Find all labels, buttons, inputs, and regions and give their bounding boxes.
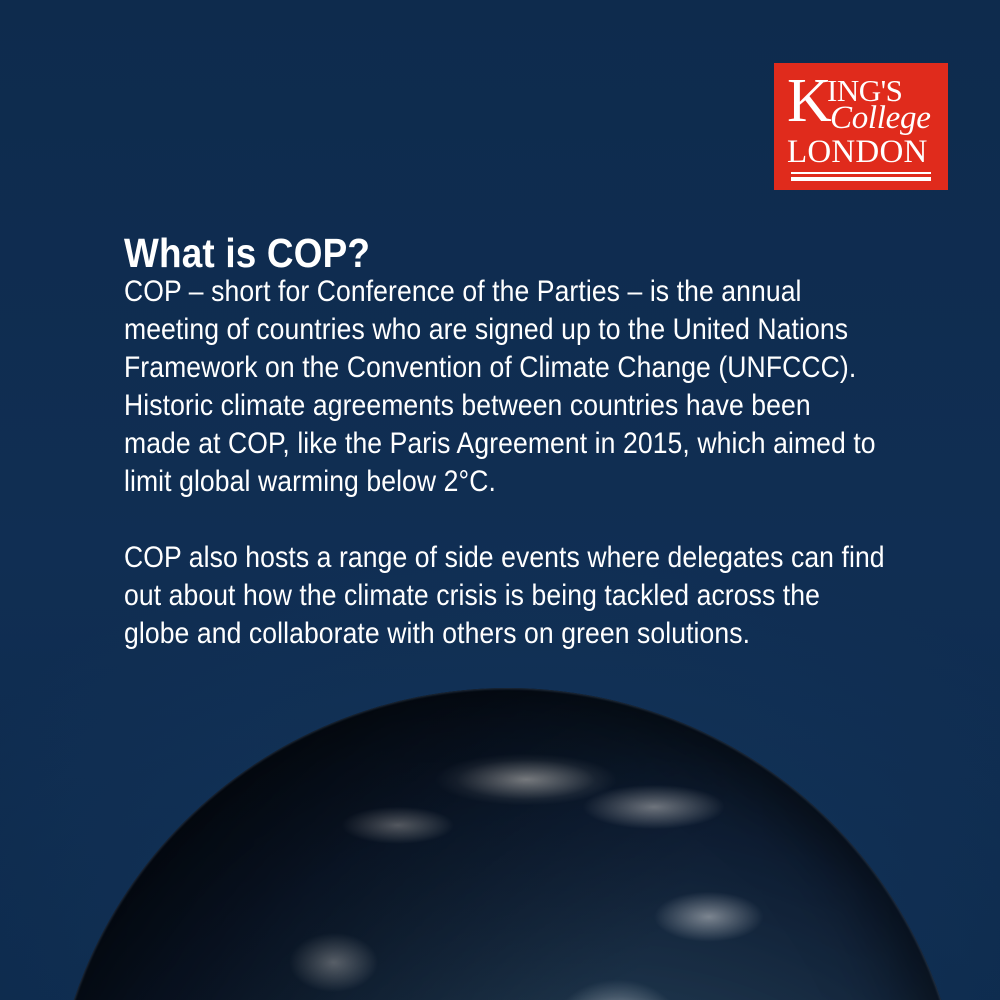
paragraph-1-line: Framework on the Convention of Climate C…	[124, 349, 903, 387]
logo-underline-rules	[791, 172, 931, 181]
body-copy: COP – short for Conference of the Partie…	[124, 273, 903, 653]
paragraph-1: COP – short for Conference of the Partie…	[124, 273, 903, 501]
paragraph-2-line: globe and collaborate with others on gre…	[124, 615, 903, 653]
logo-wordmark: K ING'S College	[774, 74, 948, 134]
logo-text-college: College	[830, 102, 931, 135]
paragraph-2: COP also hosts a range of side events wh…	[124, 539, 903, 653]
paragraph-2-line: out about how the climate crisis is bein…	[124, 577, 903, 615]
paragraph-1-line: limit global warming below 2°C.	[124, 463, 903, 501]
logo-row-kings: K ING'S College	[787, 74, 935, 134]
logo-rule-thick	[791, 177, 931, 181]
page-title: What is COP?	[124, 231, 370, 275]
logo-rule-thin	[791, 172, 931, 174]
cop-infographic-card: K ING'S College LONDON What is COP? COP …	[0, 0, 1000, 1000]
kings-college-london-logo[interactable]: K ING'S College LONDON	[774, 63, 948, 190]
paragraph-1-line: Historic climate agreements between coun…	[124, 387, 903, 425]
paragraph-2-line: COP also hosts a range of side events wh…	[124, 539, 903, 577]
logo-letter-k: K	[787, 70, 831, 132]
paragraph-1-line: made at COP, like the Paris Agreement in…	[124, 425, 903, 463]
logo-text-london: LONDON	[787, 136, 928, 169]
paragraph-1-line: meeting of countries who are signed up t…	[124, 311, 903, 349]
paragraph-1-line: COP – short for Conference of the Partie…	[124, 273, 903, 311]
